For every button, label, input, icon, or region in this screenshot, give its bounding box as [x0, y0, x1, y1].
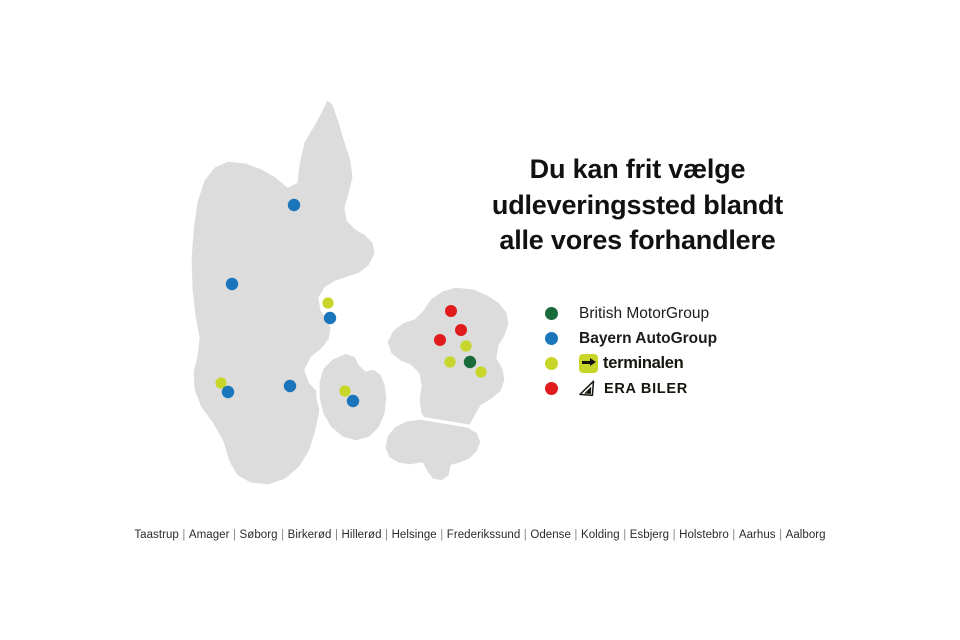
map-dot-terminalen-13[interactable]: [444, 356, 455, 367]
legend-item-era-biler[interactable]: ERA BILER: [545, 376, 845, 401]
terminalen-logo-lockup: terminalen: [579, 354, 683, 373]
city-separator: |: [279, 529, 287, 541]
city-frederikssund: Frederikssund: [446, 529, 522, 541]
city-separator: |: [180, 529, 188, 541]
legend-item-bayern-autogroup[interactable]: Bayern AutoGroup: [545, 326, 845, 351]
map-dot-era-biler-10[interactable]: [455, 324, 467, 336]
city-separator: |: [332, 529, 340, 541]
city-birkerød: Birkerød: [287, 529, 333, 541]
city-aarhus: Aarhus: [738, 529, 777, 541]
city-esbjerg: Esbjerg: [629, 529, 670, 541]
city-list: Taastrup|Amager|Søborg|Birkerød|Hillerød…: [0, 529, 960, 541]
city-amager: Amager: [188, 529, 231, 541]
city-helsinge: Helsinge: [391, 529, 438, 541]
legend-dot-terminalen: [545, 357, 558, 370]
map-dot-bayern-autogroup-6[interactable]: [284, 380, 296, 392]
legend-item-british-motorgroup[interactable]: British MotorGroup: [545, 301, 845, 326]
city-holstebro: Holstebro: [678, 529, 730, 541]
city-separator: |: [572, 529, 580, 541]
legend-dot-era-biler: [545, 382, 558, 395]
map-dot-bayern-autogroup-1[interactable]: [226, 278, 238, 290]
legend-label-terminalen: terminalen: [603, 354, 683, 373]
map-dot-terminalen-7[interactable]: [339, 385, 350, 396]
city-separator: |: [383, 529, 391, 541]
city-hillerød: Hillerød: [341, 529, 383, 541]
city-søborg: Søborg: [239, 529, 279, 541]
map-dot-terminalen-12[interactable]: [460, 340, 471, 351]
map-dot-terminalen-2[interactable]: [322, 297, 333, 308]
headline-line-2: udleveringssted blandt: [460, 188, 815, 224]
map-dot-bayern-autogroup-8[interactable]: [347, 395, 359, 407]
city-separator: |: [231, 529, 239, 541]
legend-item-terminalen[interactable]: terminalen: [545, 351, 845, 376]
era-biler-logo-lockup: ERA BILER: [579, 380, 688, 397]
legend-label-british-motorgroup: British MotorGroup: [579, 306, 709, 322]
city-separator: |: [670, 529, 678, 541]
map-dot-era-biler-11[interactable]: [434, 334, 446, 346]
legend-label-bayern-autogroup: Bayern AutoGroup: [579, 331, 717, 347]
terminalen-arrow-icon: [579, 354, 598, 373]
legend-label-era-biler: ERA BILER: [604, 381, 688, 397]
map-dot-terminalen-15[interactable]: [475, 366, 486, 377]
region-lolland-falster: [384, 418, 482, 482]
map-dot-bayern-autogroup-0[interactable]: [288, 199, 300, 211]
city-taastrup: Taastrup: [133, 529, 180, 541]
era-biler-triangle-icon: [579, 380, 598, 397]
city-aalborg: Aalborg: [785, 529, 827, 541]
page-headline: Du kan frit vælge udleveringssted blandt…: [460, 152, 815, 259]
legend-dot-bayern-autogroup: [545, 332, 558, 345]
map-dot-british-motorgroup-14[interactable]: [464, 356, 476, 368]
city-separator: |: [438, 529, 446, 541]
legend-dot-british-motorgroup: [545, 307, 558, 320]
map-dot-bayern-autogroup-3[interactable]: [324, 312, 336, 324]
city-odense: Odense: [529, 529, 572, 541]
map-dot-era-biler-9[interactable]: [445, 305, 457, 317]
city-kolding: Kolding: [580, 529, 621, 541]
headline-line-3: alle vores forhandlere: [460, 223, 815, 259]
map-dot-bayern-autogroup-5[interactable]: [222, 386, 234, 398]
headline-line-1: Du kan frit vælge: [460, 152, 815, 188]
city-separator: |: [777, 529, 785, 541]
city-separator: |: [730, 529, 738, 541]
city-separator: |: [621, 529, 629, 541]
brand-legend: British MotorGroup Bayern AutoGroup term…: [545, 301, 845, 401]
poster-canvas: Du kan frit vælge udleveringssted blandt…: [0, 0, 960, 640]
